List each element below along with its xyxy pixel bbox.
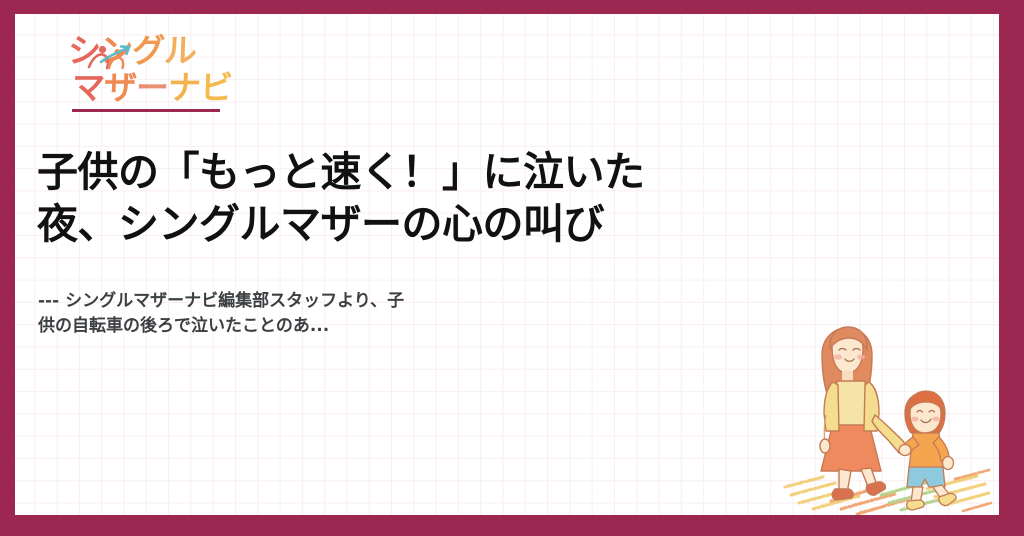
ogp-card: シングル マザーナビ 子供の「もっと速く！」に泣いた 夜、シングルマザーの心の叫… bbox=[0, 0, 1024, 536]
site-logo[interactable]: シングル マザーナビ bbox=[68, 32, 238, 106]
logo-char-za: ザ bbox=[103, 69, 136, 106]
logo-char-ma: マ bbox=[71, 69, 104, 106]
logo-underline-rule bbox=[72, 109, 220, 112]
logo-line-2: マザーナビ bbox=[71, 69, 238, 106]
logo-char-gu: グ bbox=[131, 32, 164, 69]
logo-line-1: シングル bbox=[67, 32, 238, 69]
logo-char-aa: ー bbox=[135, 69, 168, 106]
logo-char-shi: シ bbox=[67, 32, 100, 69]
card-inner-sheet: シングル マザーナビ 子供の「もっと速く！」に泣いた 夜、シングルマザーの心の叫… bbox=[15, 14, 999, 515]
logo-char-n: ン bbox=[99, 32, 132, 69]
logo-char-na: ナ bbox=[167, 69, 200, 106]
mother-and-child-walking-illustration bbox=[777, 319, 997, 515]
logo-char-ru: ル bbox=[163, 32, 196, 69]
page-description: --- シングルマザーナビ編集部スタッフより、子 供の自転車の後ろで泣いたことの… bbox=[38, 289, 538, 339]
page-title: 子供の「もっと速く！」に泣いた 夜、シングルマザーの心の叫び bbox=[37, 146, 737, 250]
logo-char-bi: ビ bbox=[199, 69, 232, 106]
